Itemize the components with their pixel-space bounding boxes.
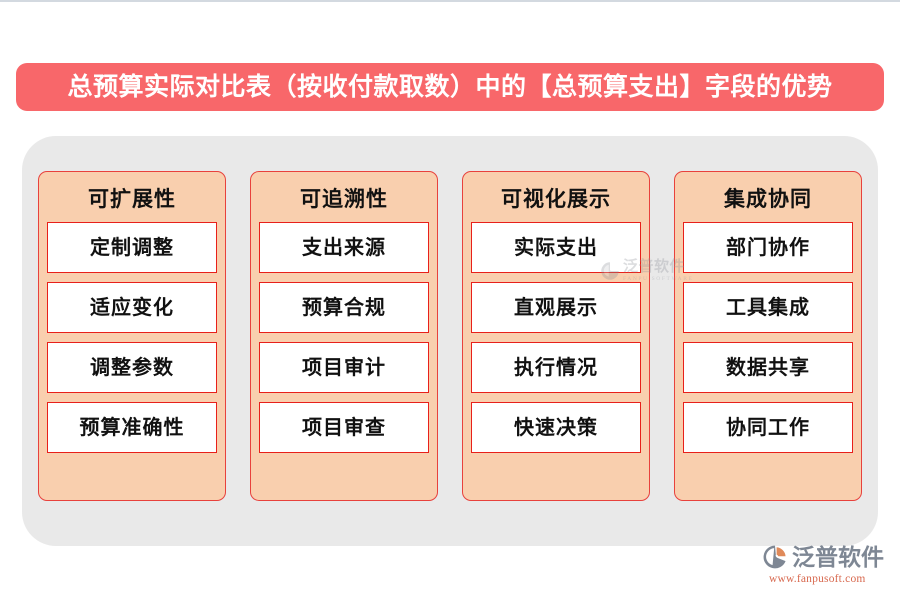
feature-item-label: 预算合规 xyxy=(302,298,386,318)
slide-canvas: 总预算实际对比表（按收付款取数）中的【总预算支出】字段的优势 可扩展性 定制调整… xyxy=(0,0,900,600)
feature-item-label: 适应变化 xyxy=(90,298,174,318)
feature-item-label: 工具集成 xyxy=(726,298,810,318)
feature-card-visualization[interactable]: 可视化展示 实际支出 直观展示 执行情况 快速决策 xyxy=(462,171,650,501)
feature-item-label: 协同工作 xyxy=(726,418,810,438)
feature-item-label: 部门协作 xyxy=(726,238,810,258)
feature-card-integration[interactable]: 集成协同 部门协作 工具集成 数据共享 协同工作 xyxy=(674,171,862,501)
feature-item-label: 直观展示 xyxy=(514,298,598,318)
feature-item-label: 预算准确性 xyxy=(80,418,185,438)
feature-item[interactable]: 预算准确性 xyxy=(47,402,217,453)
feature-item-label: 实际支出 xyxy=(514,238,598,258)
feature-item[interactable]: 适应变化 xyxy=(47,282,217,333)
feature-item[interactable]: 项目审查 xyxy=(259,402,429,453)
top-divider xyxy=(0,0,900,2)
page-title: 总预算实际对比表（按收付款取数）中的【总预算支出】字段的优势 xyxy=(67,75,832,100)
feature-item-label: 执行情况 xyxy=(514,358,598,378)
brand-logo: 泛普软件 www.fanpusoft.com xyxy=(762,543,890,589)
feature-item-label: 调整参数 xyxy=(90,358,174,378)
card-title: 可扩展性 xyxy=(47,182,217,222)
fanpu-logo-icon xyxy=(762,544,788,570)
brand-name: 泛普软件 xyxy=(792,546,884,569)
feature-item-label: 支出来源 xyxy=(302,238,386,258)
feature-item[interactable]: 快速决策 xyxy=(471,402,641,453)
feature-item-label: 快速决策 xyxy=(514,418,598,438)
card-title: 集成协同 xyxy=(683,182,853,222)
feature-item-label: 项目审计 xyxy=(302,358,386,378)
feature-item[interactable]: 工具集成 xyxy=(683,282,853,333)
card-title: 可追溯性 xyxy=(259,182,429,222)
feature-item[interactable]: 定制调整 xyxy=(47,222,217,273)
feature-item-label: 数据共享 xyxy=(726,358,810,378)
feature-item[interactable]: 实际支出 xyxy=(471,222,641,273)
title-banner: 总预算实际对比表（按收付款取数）中的【总预算支出】字段的优势 xyxy=(16,63,884,111)
feature-item[interactable]: 预算合规 xyxy=(259,282,429,333)
brand-logo-row: 泛普软件 xyxy=(762,543,884,571)
feature-card-scalability[interactable]: 可扩展性 定制调整 适应变化 调整参数 预算准确性 xyxy=(38,171,226,501)
feature-item-label: 项目审查 xyxy=(302,418,386,438)
feature-item[interactable]: 项目审计 xyxy=(259,342,429,393)
feature-item[interactable]: 部门协作 xyxy=(683,222,853,273)
card-title: 可视化展示 xyxy=(471,182,641,222)
feature-item[interactable]: 直观展示 xyxy=(471,282,641,333)
feature-item[interactable]: 数据共享 xyxy=(683,342,853,393)
feature-item[interactable]: 调整参数 xyxy=(47,342,217,393)
feature-item[interactable]: 执行情况 xyxy=(471,342,641,393)
feature-item[interactable]: 支出来源 xyxy=(259,222,429,273)
brand-url: www.fanpusoft.com xyxy=(769,573,866,585)
feature-columns: 可扩展性 定制调整 适应变化 调整参数 预算准确性 可追溯性 支出来源 预算合规 xyxy=(38,171,862,501)
feature-card-traceability[interactable]: 可追溯性 支出来源 预算合规 项目审计 项目审查 xyxy=(250,171,438,501)
feature-item-label: 定制调整 xyxy=(90,238,174,258)
feature-item[interactable]: 协同工作 xyxy=(683,402,853,453)
